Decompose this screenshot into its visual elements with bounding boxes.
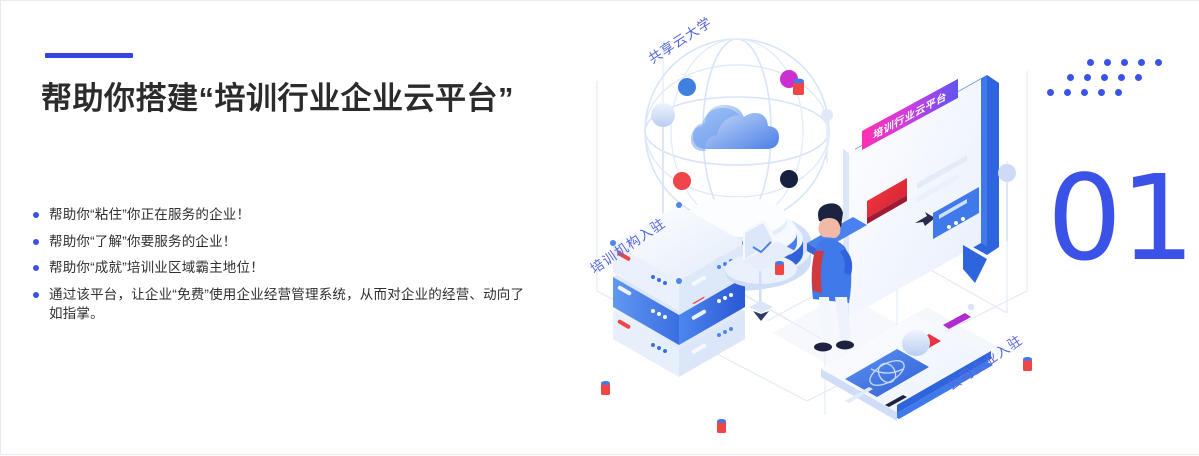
accent-bar — [45, 53, 133, 58]
list-item: 帮助你“了解”你要服务的企业！ — [33, 232, 533, 252]
bullet-dot-icon — [33, 239, 39, 245]
node-blue — [678, 78, 696, 96]
list-item: 帮助你“粘住”你正在服务的企业！ — [33, 205, 533, 225]
page-title: 帮助你搭建“培训行业企业云平台” — [41, 73, 514, 118]
list-item: 通过该平台，让企业“免费”使用企业经营管理系统，从而对企业的经营、动向了如指掌。 — [33, 285, 533, 324]
list-item-label: 帮助你“成就”培训业区域霸主地位！ — [49, 258, 264, 278]
bullet-list: 帮助你“粘住”你正在服务的企业！ 帮助你“了解”你要服务的企业！ 帮助你“成就”… — [33, 205, 533, 331]
list-item-label: 通过该平台，让企业“免费”使用企业经营管理系统，从而对企业的经营、动向了如指掌。 — [49, 285, 533, 324]
node-red — [673, 172, 691, 190]
node-navy — [780, 170, 798, 188]
cloud-globe — [645, 39, 829, 223]
slide-root: 帮助你搭建“培训行业企业云平台” 帮助你“粘住”你正在服务的企业！ 帮助你“了解… — [0, 0, 1199, 455]
list-item: 帮助你“成就”培训业区域霸主地位！ — [33, 258, 533, 278]
bullet-dot-icon — [33, 292, 39, 298]
isometric-illustration: 共享云大学 培训机构入驻 公司企业入驻 培训行业云平台 — [567, 1, 1127, 456]
list-item-label: 帮助你“粘住”你正在服务的企业！ — [49, 205, 250, 225]
list-item-label: 帮助你“了解”你要服务的企业！ — [49, 232, 237, 252]
coffee-cup — [793, 79, 804, 95]
bullet-dot-icon — [33, 212, 39, 218]
bullet-dot-icon — [33, 265, 39, 271]
